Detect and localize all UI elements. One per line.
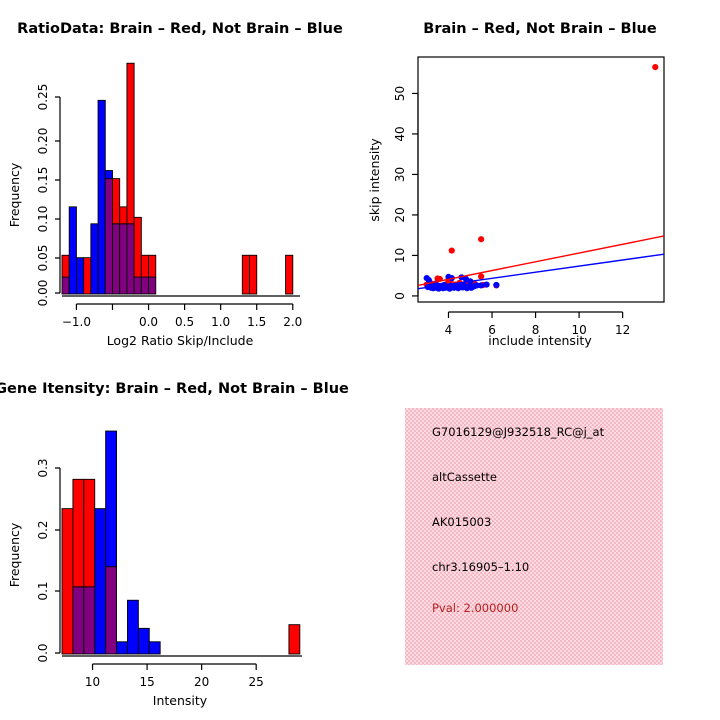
scatter-point [493, 282, 499, 288]
x-tick-label: 1.0 [211, 315, 230, 329]
scatter-point [468, 285, 474, 291]
info-box-svg: G7016129@J932518_RC@j_at altCassette AK0… [360, 360, 720, 720]
ratio-histogram-xlabel: Log2 Ratio Skip/Include [107, 333, 254, 348]
regression-line [418, 254, 664, 288]
histogram-bar [149, 642, 160, 654]
scatter-ylabel: skip intensity [367, 138, 382, 222]
y-tick-label: 0 [393, 292, 407, 300]
histogram-bar [106, 567, 117, 654]
scatter-point [478, 236, 484, 242]
histogram-bar [127, 63, 134, 224]
gene-intensity-bars [62, 431, 300, 654]
histogram-bar [91, 224, 98, 294]
histogram-bar [84, 479, 95, 587]
scatter-title: Brain – Red, Not Brain – Blue [423, 21, 657, 37]
x-tick-label: −1.0 [62, 315, 91, 329]
info-box-background [405, 408, 663, 665]
histogram-bar [127, 600, 138, 654]
y-tick-label: 10 [393, 248, 407, 263]
info-accession: AK015003 [432, 515, 491, 529]
histogram-bar [112, 179, 119, 224]
scatter-fit-lines [418, 236, 664, 289]
gene-ytick-0.0: 0.0 [36, 643, 50, 662]
gene-intensity-y-axis: 0.3 0.2 0.1 0.0 Frequency [7, 458, 60, 662]
ratio-histogram-x-axis: −1.00.00.51.01.52.0 Log2 Ratio Skip/Incl… [62, 296, 302, 348]
histogram-bar [95, 509, 106, 654]
scatter-point [478, 273, 484, 279]
gene-intensity-title: Gene Itensity: Brain – Red, Not Brain – … [0, 381, 349, 397]
histogram-bar [117, 642, 128, 654]
y-tick-label: 20 [393, 207, 407, 222]
scatter-xlabel: include intensity [488, 333, 592, 348]
scatter-point [652, 64, 658, 70]
histogram-bar [289, 625, 300, 654]
histogram-bar [69, 207, 76, 294]
panel-gene-intensity-histogram: Gene Itensity: Brain – Red, Not Brain – … [0, 360, 360, 720]
gene-ytick-0.2: 0.2 [36, 520, 50, 539]
histogram-bar [73, 479, 84, 587]
histogram-bar [242, 255, 249, 294]
histogram-bar [120, 207, 127, 224]
ratio-histogram-svg: RatioData: Brain – Red, Not Brain – Blue… [0, 0, 360, 360]
histogram-bar [76, 258, 83, 294]
gene-intensity-ylabel: Frequency [7, 522, 22, 587]
y-tick-label: 30 [393, 167, 407, 182]
scatter-point [449, 247, 455, 253]
gene-ytick-0.3: 0.3 [36, 458, 50, 477]
gene-intensity-x-axis: 10152025 Intensity [62, 656, 302, 708]
ratio-ytick-0.05: 0.05 [36, 245, 50, 272]
gene-ytick-0.1: 0.1 [36, 581, 50, 600]
histogram-bar [141, 255, 148, 277]
histogram-bar [62, 255, 69, 277]
x-tick-label: 25 [249, 675, 264, 689]
histogram-bar [250, 255, 257, 294]
panel-ratio-histogram: RatioData: Brain – Red, Not Brain – Blue… [0, 0, 360, 360]
x-tick-label: 12 [615, 323, 630, 337]
x-tick-label: 15 [139, 675, 154, 689]
info-pval: Pval: 2.000000 [432, 601, 518, 615]
gene-intensity-xlabel: Intensity [153, 693, 208, 708]
histogram-bar [84, 587, 95, 654]
histogram-bar [84, 258, 91, 294]
histogram-bar [106, 431, 117, 567]
ratio-histogram-bars [62, 63, 293, 294]
histogram-bar [134, 277, 141, 294]
histogram-bar [286, 255, 293, 294]
x-tick-label: 10 [85, 675, 100, 689]
ratio-ytick-0.15: 0.15 [36, 167, 50, 194]
panel-info-box: G7016129@J932518_RC@j_at altCassette AK0… [360, 360, 720, 720]
x-tick-label: 20 [194, 675, 209, 689]
histogram-bar [62, 277, 69, 294]
panel-intensity-scatter: Brain – Red, Not Brain – Blue 0102030405… [360, 0, 720, 360]
info-locus: chr3.16905–1.10 [432, 560, 529, 574]
scatter-plot-frame [418, 57, 664, 302]
histogram-bar [62, 509, 73, 654]
histogram-bar [112, 224, 119, 294]
ratio-ytick-0.00: 0.00 [36, 280, 50, 307]
gene-intensity-svg: Gene Itensity: Brain – Red, Not Brain – … [0, 360, 360, 720]
histogram-bar [149, 277, 156, 294]
x-tick-label: 0.5 [175, 315, 194, 329]
scatter-point [483, 281, 489, 287]
histogram-bar [105, 179, 112, 294]
y-tick-label: 50 [393, 86, 407, 101]
x-tick-label: 0.0 [139, 315, 158, 329]
ratio-ytick-0.10: 0.10 [36, 206, 50, 233]
histogram-bar [105, 171, 112, 179]
histogram-bar [149, 255, 156, 277]
ratio-histogram-ylabel: Frequency [7, 162, 22, 227]
info-probe-id: G7016129@J932518_RC@j_at [432, 425, 605, 439]
scatter-y-axis: 01020304050 [393, 86, 418, 300]
histogram-bar [134, 217, 141, 277]
histogram-bar [98, 100, 105, 294]
x-tick-label: 4 [445, 323, 453, 337]
ratio-ytick-0.25: 0.25 [36, 84, 50, 111]
info-event-type: altCassette [432, 470, 497, 484]
ratio-histogram-y-axis: 0.25 0.20 0.15 0.10 0.05 0.00 Frequency [7, 84, 60, 307]
scatter-point [478, 282, 484, 288]
regression-line [418, 236, 664, 285]
x-tick-label: 1.5 [247, 315, 266, 329]
ratio-ytick-0.20: 0.20 [36, 128, 50, 155]
histogram-bar [73, 587, 84, 654]
histogram-bar [141, 277, 148, 294]
intensity-scatter-svg: Brain – Red, Not Brain – Blue 0102030405… [360, 0, 720, 360]
y-tick-label: 40 [393, 126, 407, 141]
figure-root: RatioData: Brain – Red, Not Brain – Blue… [0, 0, 720, 720]
x-tick-label: 2.0 [283, 315, 302, 329]
scatter-data-points [424, 64, 659, 292]
ratio-histogram-title: RatioData: Brain – Red, Not Brain – Blue [17, 21, 343, 37]
histogram-bar [138, 628, 149, 654]
histogram-bar [127, 224, 134, 294]
histogram-bar [120, 224, 127, 294]
